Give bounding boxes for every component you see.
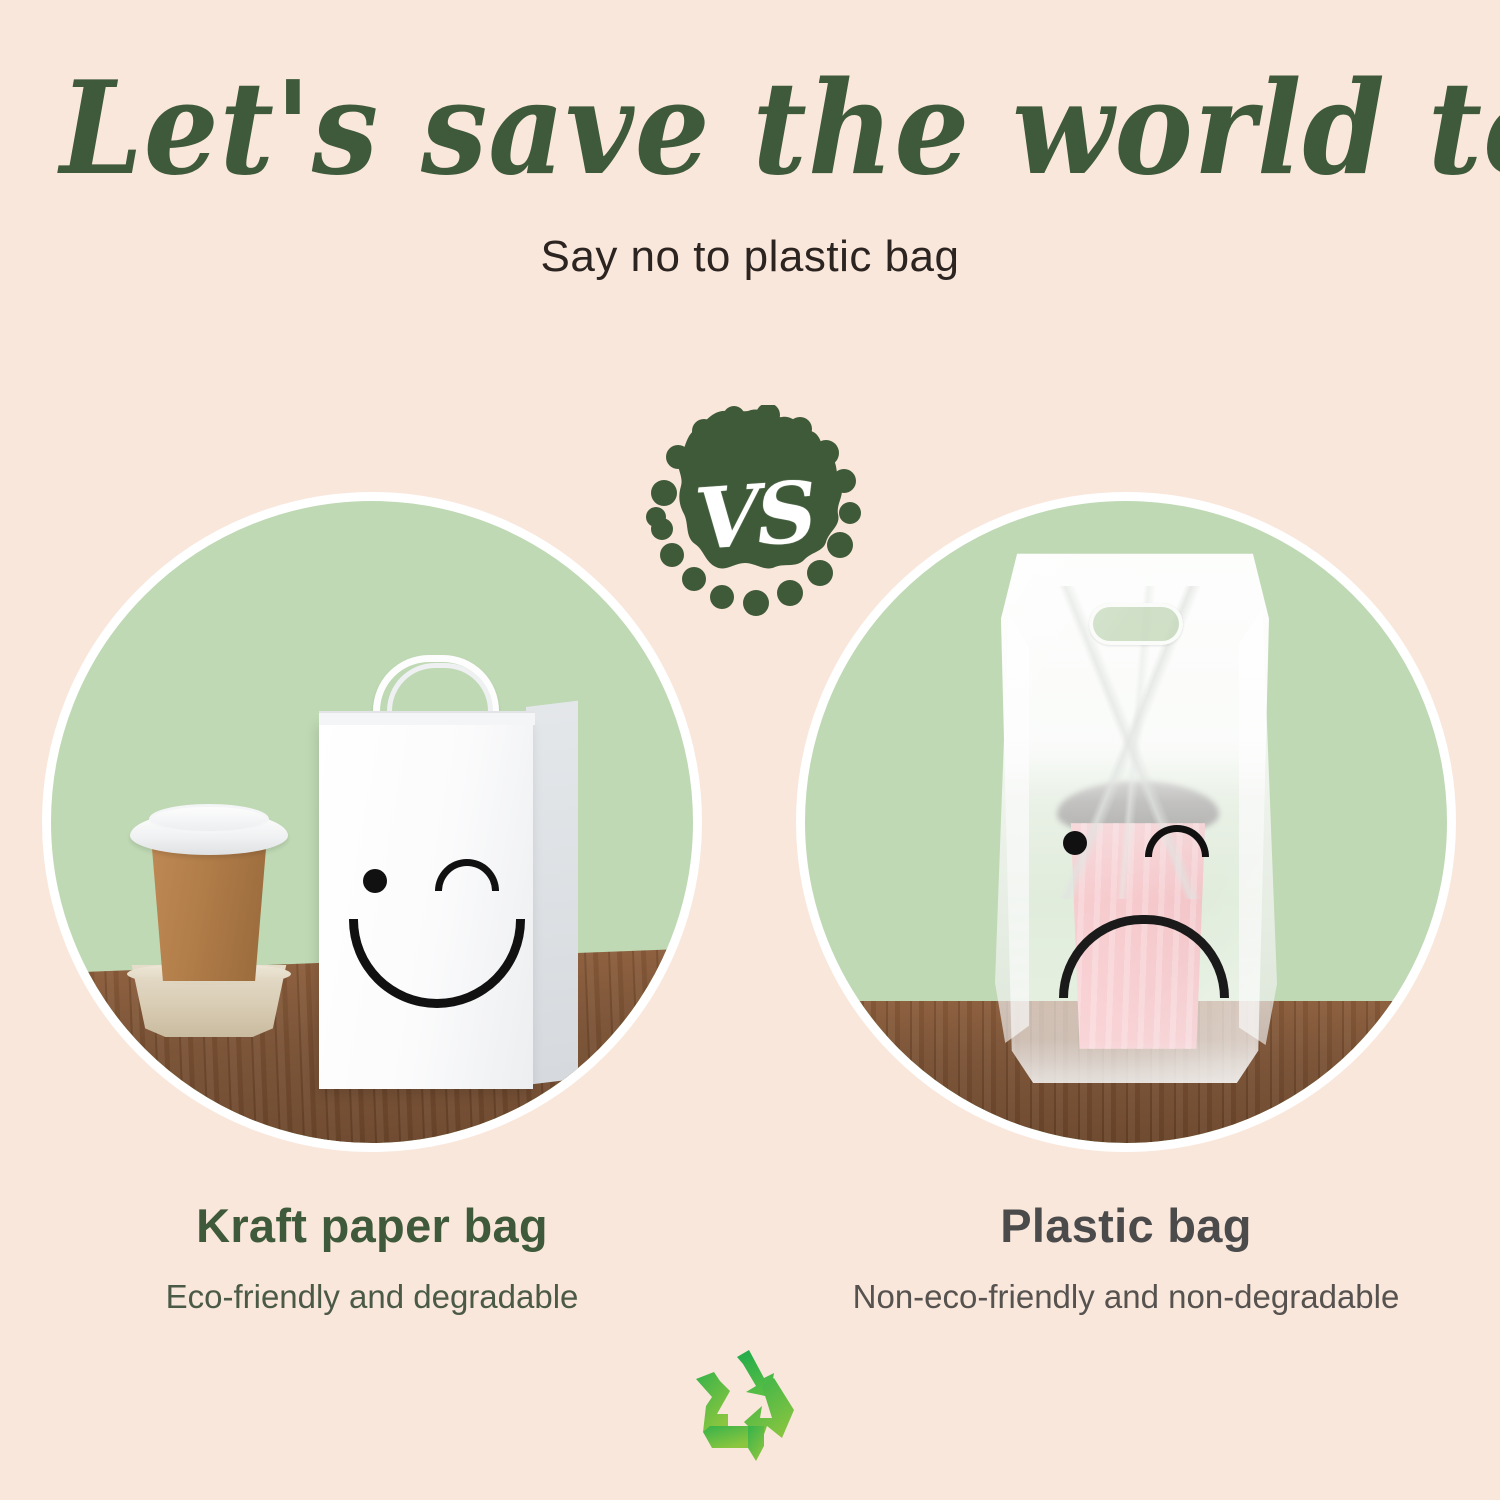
sad-face-icon <box>1001 543 1269 1083</box>
poster-canvas: Let's save the world together Say no to … <box>0 0 1500 1500</box>
left-description: Eco-friendly and degradable <box>22 1278 722 1316</box>
page-title: Let's save the world together <box>60 62 1440 196</box>
vs-label: VS <box>635 401 873 628</box>
right-scene <box>805 501 1447 1143</box>
cup-body <box>145 841 273 981</box>
right-description: Non-eco-friendly and non-degradable <box>776 1278 1476 1316</box>
right-heading: Plastic bag <box>796 1198 1456 1253</box>
smiley-mouth-icon <box>349 919 525 1008</box>
plastic-bag <box>1001 543 1269 1083</box>
sad-right-eye-icon <box>1145 825 1209 857</box>
smiley-left-eye-icon <box>363 869 387 893</box>
coffee-cup <box>125 779 293 1025</box>
comparison-card-right <box>796 492 1456 1152</box>
bag-side-panel <box>526 701 578 1085</box>
vs-badge: VS <box>638 405 862 617</box>
page-subtitle: Say no to plastic bag <box>0 232 1500 282</box>
smiley-wink-eye-icon <box>435 859 499 891</box>
comparison-card-left <box>42 492 702 1152</box>
cup-lid-top <box>149 804 269 834</box>
kraft-paper-bag <box>319 697 577 1089</box>
sad-left-eye-icon <box>1063 831 1087 855</box>
left-scene <box>51 501 693 1143</box>
sad-mouth-icon <box>1059 915 1229 998</box>
smiley-face-icon <box>319 719 533 1089</box>
recycle-icon <box>690 1348 810 1463</box>
left-heading: Kraft paper bag <box>42 1198 702 1253</box>
